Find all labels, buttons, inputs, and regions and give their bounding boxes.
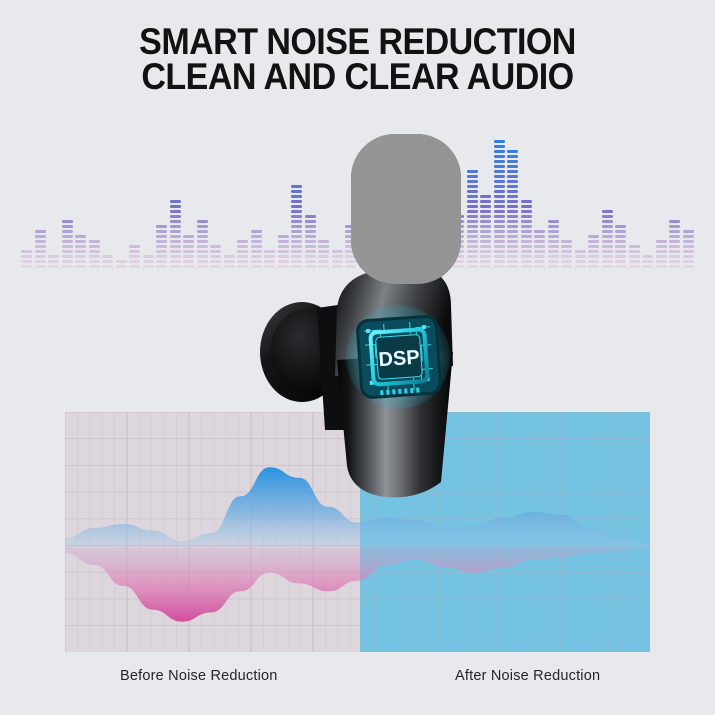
equalizer-segment <box>494 205 505 208</box>
equalizer-segment <box>683 230 694 233</box>
equalizer-segment <box>615 245 626 248</box>
equalizer-segment <box>494 215 505 218</box>
equalizer-segment <box>494 190 505 193</box>
caption-after: After Noise Reduction <box>455 668 600 684</box>
equalizer-segment <box>75 260 86 263</box>
equalizer-segment <box>62 225 73 228</box>
equalizer-segment <box>494 175 505 178</box>
equalizer-segment <box>521 255 532 258</box>
equalizer-segment <box>129 250 140 253</box>
equalizer-segment <box>521 235 532 238</box>
equalizer-segment <box>116 265 127 268</box>
equalizer-segment <box>561 255 572 258</box>
equalizer-segment <box>143 265 154 268</box>
equalizer-segment <box>615 240 626 243</box>
equalizer-segment <box>683 235 694 238</box>
equalizer-segment <box>494 195 505 198</box>
equalizer-segment <box>129 260 140 263</box>
equalizer-segment <box>62 240 73 243</box>
equalizer-segment <box>615 230 626 233</box>
equalizer-segment <box>683 240 694 243</box>
equalizer-segment <box>170 220 181 223</box>
equalizer-segment <box>494 165 505 168</box>
equalizer-segment <box>507 255 518 258</box>
equalizer-segment <box>75 245 86 248</box>
equalizer-segment <box>480 210 491 213</box>
headline-line-2: CLEAN AND CLEAR AUDIO <box>29 59 687 94</box>
equalizer-column <box>467 170 478 270</box>
equalizer-segment <box>602 255 613 258</box>
equalizer-segment <box>507 180 518 183</box>
equalizer-segment <box>642 260 653 263</box>
equalizer-segment <box>170 225 181 228</box>
equalizer-segment <box>534 230 545 233</box>
equalizer-segment <box>467 185 478 188</box>
equalizer-segment <box>507 170 518 173</box>
equalizer-segment <box>197 260 208 263</box>
equalizer-segment <box>62 260 73 263</box>
equalizer-column <box>129 245 140 270</box>
equalizer-segment <box>548 230 559 233</box>
equalizer-segment <box>480 230 491 233</box>
equalizer-segment <box>669 240 680 243</box>
equalizer-segment <box>548 235 559 238</box>
equalizer-segment <box>116 260 127 263</box>
equalizer-segment <box>129 245 140 248</box>
equalizer-segment <box>183 255 194 258</box>
equalizer-column <box>548 220 559 270</box>
equalizer-segment <box>507 205 518 208</box>
equalizer-segment <box>494 245 505 248</box>
equalizer-segment <box>507 260 518 263</box>
equalizer-segment <box>480 240 491 243</box>
equalizer-column <box>183 235 194 270</box>
product-marketing-image: SMART NOISE REDUCTION CLEAN AND CLEAR AU… <box>0 0 715 715</box>
equalizer-segment <box>588 235 599 238</box>
equalizer-segment <box>89 245 100 248</box>
equalizer-segment <box>156 235 167 238</box>
equalizer-segment <box>21 255 32 258</box>
equalizer-column <box>683 230 694 270</box>
equalizer-segment <box>507 225 518 228</box>
equalizer-column <box>534 230 545 270</box>
equalizer-segment <box>494 210 505 213</box>
equalizer-segment <box>683 265 694 268</box>
equalizer-segment <box>602 265 613 268</box>
equalizer-segment <box>507 215 518 218</box>
equalizer-segment <box>494 220 505 223</box>
equalizer-segment <box>548 260 559 263</box>
equalizer-segment <box>561 265 572 268</box>
equalizer-segment <box>467 260 478 263</box>
equalizer-segment <box>494 260 505 263</box>
equalizer-segment <box>467 220 478 223</box>
lavalier-microphone: DSP <box>255 130 465 505</box>
equalizer-segment <box>210 245 221 248</box>
equalizer-segment <box>656 255 667 258</box>
equalizer-segment <box>89 240 100 243</box>
equalizer-segment <box>170 215 181 218</box>
equalizer-segment <box>129 255 140 258</box>
equalizer-segment <box>521 210 532 213</box>
equalizer-segment <box>48 255 59 258</box>
equalizer-segment <box>480 225 491 228</box>
equalizer-segment <box>602 240 613 243</box>
equalizer-segment <box>548 250 559 253</box>
equalizer-segment <box>183 235 194 238</box>
equalizer-segment <box>548 265 559 268</box>
equalizer-column <box>656 240 667 270</box>
equalizer-segment <box>62 245 73 248</box>
equalizer-segment <box>669 255 680 258</box>
equalizer-segment <box>156 250 167 253</box>
equalizer-segment <box>170 260 181 263</box>
equalizer-segment <box>237 240 248 243</box>
equalizer-column <box>197 220 208 270</box>
equalizer-segment <box>521 250 532 253</box>
equalizer-segment <box>507 210 518 213</box>
equalizer-segment <box>102 255 113 258</box>
equalizer-segment <box>35 230 46 233</box>
equalizer-segment <box>21 265 32 268</box>
equalizer-segment <box>237 260 248 263</box>
equalizer-column <box>143 255 154 270</box>
equalizer-column <box>116 260 127 270</box>
equalizer-segment <box>102 260 113 263</box>
equalizer-segment <box>197 255 208 258</box>
equalizer-segment <box>183 245 194 248</box>
equalizer-segment <box>588 245 599 248</box>
equalizer-segment <box>170 250 181 253</box>
equalizer-segment <box>467 265 478 268</box>
equalizer-segment <box>602 215 613 218</box>
equalizer-segment <box>561 250 572 253</box>
equalizer-segment <box>183 265 194 268</box>
equalizer-segment <box>521 220 532 223</box>
equalizer-column <box>588 235 599 270</box>
equalizer-segment <box>494 235 505 238</box>
equalizer-segment <box>170 265 181 268</box>
equalizer-segment <box>197 220 208 223</box>
equalizer-segment <box>143 255 154 258</box>
equalizer-segment <box>467 190 478 193</box>
equalizer-segment <box>480 205 491 208</box>
equalizer-segment <box>480 250 491 253</box>
equalizer-segment <box>62 265 73 268</box>
equalizer-segment <box>669 265 680 268</box>
equalizer-column <box>48 255 59 270</box>
equalizer-segment <box>602 260 613 263</box>
equalizer-segment <box>507 265 518 268</box>
equalizer-segment <box>494 225 505 228</box>
equalizer-segment <box>656 245 667 248</box>
equalizer-segment <box>494 265 505 268</box>
equalizer-column <box>62 220 73 270</box>
equalizer-segment <box>521 230 532 233</box>
equalizer-segment <box>467 245 478 248</box>
page-title: SMART NOISE REDUCTION CLEAN AND CLEAR AU… <box>0 24 715 94</box>
equalizer-segment <box>170 205 181 208</box>
equalizer-segment <box>62 220 73 223</box>
equalizer-segment <box>629 265 640 268</box>
equalizer-segment <box>156 240 167 243</box>
equalizer-segment <box>183 240 194 243</box>
equalizer-segment <box>507 190 518 193</box>
equalizer-segment <box>656 240 667 243</box>
equalizer-segment <box>62 255 73 258</box>
equalizer-segment <box>615 265 626 268</box>
equalizer-segment <box>507 160 518 163</box>
dsp-chip-label: DSP <box>378 346 421 371</box>
equalizer-column <box>210 245 221 270</box>
equalizer-segment <box>48 260 59 263</box>
equalizer-segment <box>210 260 221 263</box>
equalizer-column <box>561 240 572 270</box>
equalizer-segment <box>534 265 545 268</box>
equalizer-segment <box>102 265 113 268</box>
equalizer-segment <box>237 265 248 268</box>
equalizer-segment <box>521 260 532 263</box>
equalizer-segment <box>183 250 194 253</box>
equalizer-column <box>494 140 505 270</box>
equalizer-segment <box>467 255 478 258</box>
equalizer-segment <box>210 255 221 258</box>
equalizer-segment <box>75 240 86 243</box>
equalizer-segment <box>170 230 181 233</box>
equalizer-column <box>224 255 235 270</box>
equalizer-segment <box>21 250 32 253</box>
equalizer-segment <box>507 235 518 238</box>
equalizer-segment <box>224 260 235 263</box>
equalizer-segment <box>62 235 73 238</box>
equalizer-segment <box>480 220 491 223</box>
equalizer-segment <box>197 240 208 243</box>
equalizer-segment <box>237 250 248 253</box>
equalizer-segment <box>507 155 518 158</box>
equalizer-segment <box>35 260 46 263</box>
equalizer-segment <box>89 265 100 268</box>
equalizer-segment <box>642 265 653 268</box>
equalizer-segment <box>467 235 478 238</box>
equalizer-segment <box>561 260 572 263</box>
equalizer-segment <box>170 200 181 203</box>
equalizer-segment <box>210 265 221 268</box>
equalizer-segment <box>521 240 532 243</box>
equalizer-segment <box>480 235 491 238</box>
equalizer-segment <box>467 215 478 218</box>
equalizer-segment <box>602 250 613 253</box>
equalizer-column <box>237 240 248 270</box>
equalizer-segment <box>35 245 46 248</box>
equalizer-segment <box>89 250 100 253</box>
equalizer-segment <box>494 145 505 148</box>
equalizer-segment <box>602 235 613 238</box>
equalizer-segment <box>467 180 478 183</box>
equalizer-segment <box>480 265 491 268</box>
equalizer-segment <box>602 220 613 223</box>
equalizer-column <box>521 200 532 270</box>
equalizer-segment <box>548 245 559 248</box>
equalizer-segment <box>588 260 599 263</box>
equalizer-segment <box>75 250 86 253</box>
equalizer-segment <box>507 240 518 243</box>
equalizer-segment <box>156 265 167 268</box>
equalizer-segment <box>615 250 626 253</box>
equalizer-segment <box>656 260 667 263</box>
equalizer-segment <box>197 230 208 233</box>
equalizer-segment <box>210 250 221 253</box>
equalizer-segment <box>183 260 194 263</box>
equalizer-segment <box>602 245 613 248</box>
equalizer-segment <box>507 175 518 178</box>
equalizer-column <box>575 250 586 270</box>
equalizer-segment <box>48 265 59 268</box>
equalizer-segment <box>467 205 478 208</box>
equalizer-segment <box>534 255 545 258</box>
equalizer-column <box>170 200 181 270</box>
equalizer-segment <box>588 240 599 243</box>
equalizer-segment <box>642 255 653 258</box>
equalizer-segment <box>170 245 181 248</box>
equalizer-segment <box>656 250 667 253</box>
equalizer-segment <box>467 210 478 213</box>
equalizer-segment <box>197 250 208 253</box>
equalizer-column <box>507 150 518 270</box>
equalizer-segment <box>669 230 680 233</box>
equalizer-segment <box>480 215 491 218</box>
equalizer-column <box>629 245 640 270</box>
equalizer-segment <box>548 255 559 258</box>
equalizer-segment <box>683 245 694 248</box>
equalizer-column <box>75 235 86 270</box>
equalizer-segment <box>507 200 518 203</box>
equalizer-segment <box>534 260 545 263</box>
equalizer-segment <box>629 250 640 253</box>
headline-line-1: SMART NOISE REDUCTION <box>29 24 687 59</box>
equalizer-segment <box>507 230 518 233</box>
equalizer-segment <box>494 230 505 233</box>
equalizer-segment <box>35 240 46 243</box>
equalizer-segment <box>588 250 599 253</box>
equalizer-segment <box>156 255 167 258</box>
equalizer-segment <box>602 210 613 213</box>
equalizer-segment <box>507 185 518 188</box>
equalizer-segment <box>467 250 478 253</box>
equalizer-segment <box>494 140 505 143</box>
equalizer-segment <box>507 245 518 248</box>
equalizer-segment <box>494 240 505 243</box>
equalizer-segment <box>629 260 640 263</box>
equalizer-segment <box>575 260 586 263</box>
equalizer-segment <box>588 255 599 258</box>
equalizer-segment <box>467 170 478 173</box>
equalizer-segment <box>602 230 613 233</box>
equalizer-column <box>480 195 491 270</box>
equalizer-segment <box>75 255 86 258</box>
equalizer-segment <box>89 260 100 263</box>
equalizer-segment <box>467 175 478 178</box>
equalizer-segment <box>669 260 680 263</box>
equalizer-segment <box>170 255 181 258</box>
equalizer-segment <box>534 250 545 253</box>
equalizer-segment <box>588 265 599 268</box>
equalizer-segment <box>548 240 559 243</box>
equalizer-segment <box>494 180 505 183</box>
equalizer-segment <box>507 195 518 198</box>
equalizer-segment <box>143 260 154 263</box>
equalizer-segment <box>534 235 545 238</box>
equalizer-segment <box>615 255 626 258</box>
equalizer-segment <box>467 195 478 198</box>
equalizer-segment <box>521 200 532 203</box>
equalizer-segment <box>197 235 208 238</box>
equalizer-segment <box>615 225 626 228</box>
equalizer-column <box>89 240 100 270</box>
equalizer-segment <box>480 260 491 263</box>
equalizer-column <box>102 255 113 270</box>
equalizer-segment <box>521 225 532 228</box>
equalizer-segment <box>494 170 505 173</box>
equalizer-segment <box>467 225 478 228</box>
equalizer-segment <box>521 215 532 218</box>
equalizer-segment <box>494 250 505 253</box>
equalizer-segment <box>507 165 518 168</box>
equalizer-segment <box>669 245 680 248</box>
equalizer-segment <box>129 265 140 268</box>
equalizer-segment <box>62 250 73 253</box>
equalizer-segment <box>494 200 505 203</box>
equalizer-segment <box>35 265 46 268</box>
equalizer-column <box>642 255 653 270</box>
equalizer-segment <box>534 240 545 243</box>
equalizer-segment <box>575 255 586 258</box>
equalizer-segment <box>480 195 491 198</box>
equalizer-segment <box>170 235 181 238</box>
equalizer-segment <box>507 150 518 153</box>
equalizer-segment <box>669 235 680 238</box>
equalizer-segment <box>629 255 640 258</box>
equalizer-segment <box>575 265 586 268</box>
equalizer-segment <box>521 205 532 208</box>
equalizer-segment <box>156 245 167 248</box>
equalizer-segment <box>561 240 572 243</box>
equalizer-segment <box>575 250 586 253</box>
equalizer-segment <box>35 255 46 258</box>
foam-windscreen <box>351 134 461 284</box>
equalizer-segment <box>507 250 518 253</box>
equalizer-segment <box>615 235 626 238</box>
equalizer-segment <box>156 225 167 228</box>
equalizer-segment <box>237 245 248 248</box>
equalizer-segment <box>507 220 518 223</box>
equalizer-segment <box>521 265 532 268</box>
equalizer-segment <box>197 245 208 248</box>
equalizer-segment <box>156 230 167 233</box>
equalizer-segment <box>656 265 667 268</box>
equalizer-segment <box>480 255 491 258</box>
equalizer-segment <box>224 265 235 268</box>
equalizer-segment <box>21 260 32 263</box>
equalizer-segment <box>683 255 694 258</box>
equalizer-segment <box>494 160 505 163</box>
equalizer-segment <box>494 150 505 153</box>
equalizer-segment <box>683 250 694 253</box>
equalizer-segment <box>156 260 167 263</box>
equalizer-segment <box>75 265 86 268</box>
equalizer-segment <box>494 185 505 188</box>
equalizer-column <box>669 220 680 270</box>
equalizer-segment <box>89 255 100 258</box>
